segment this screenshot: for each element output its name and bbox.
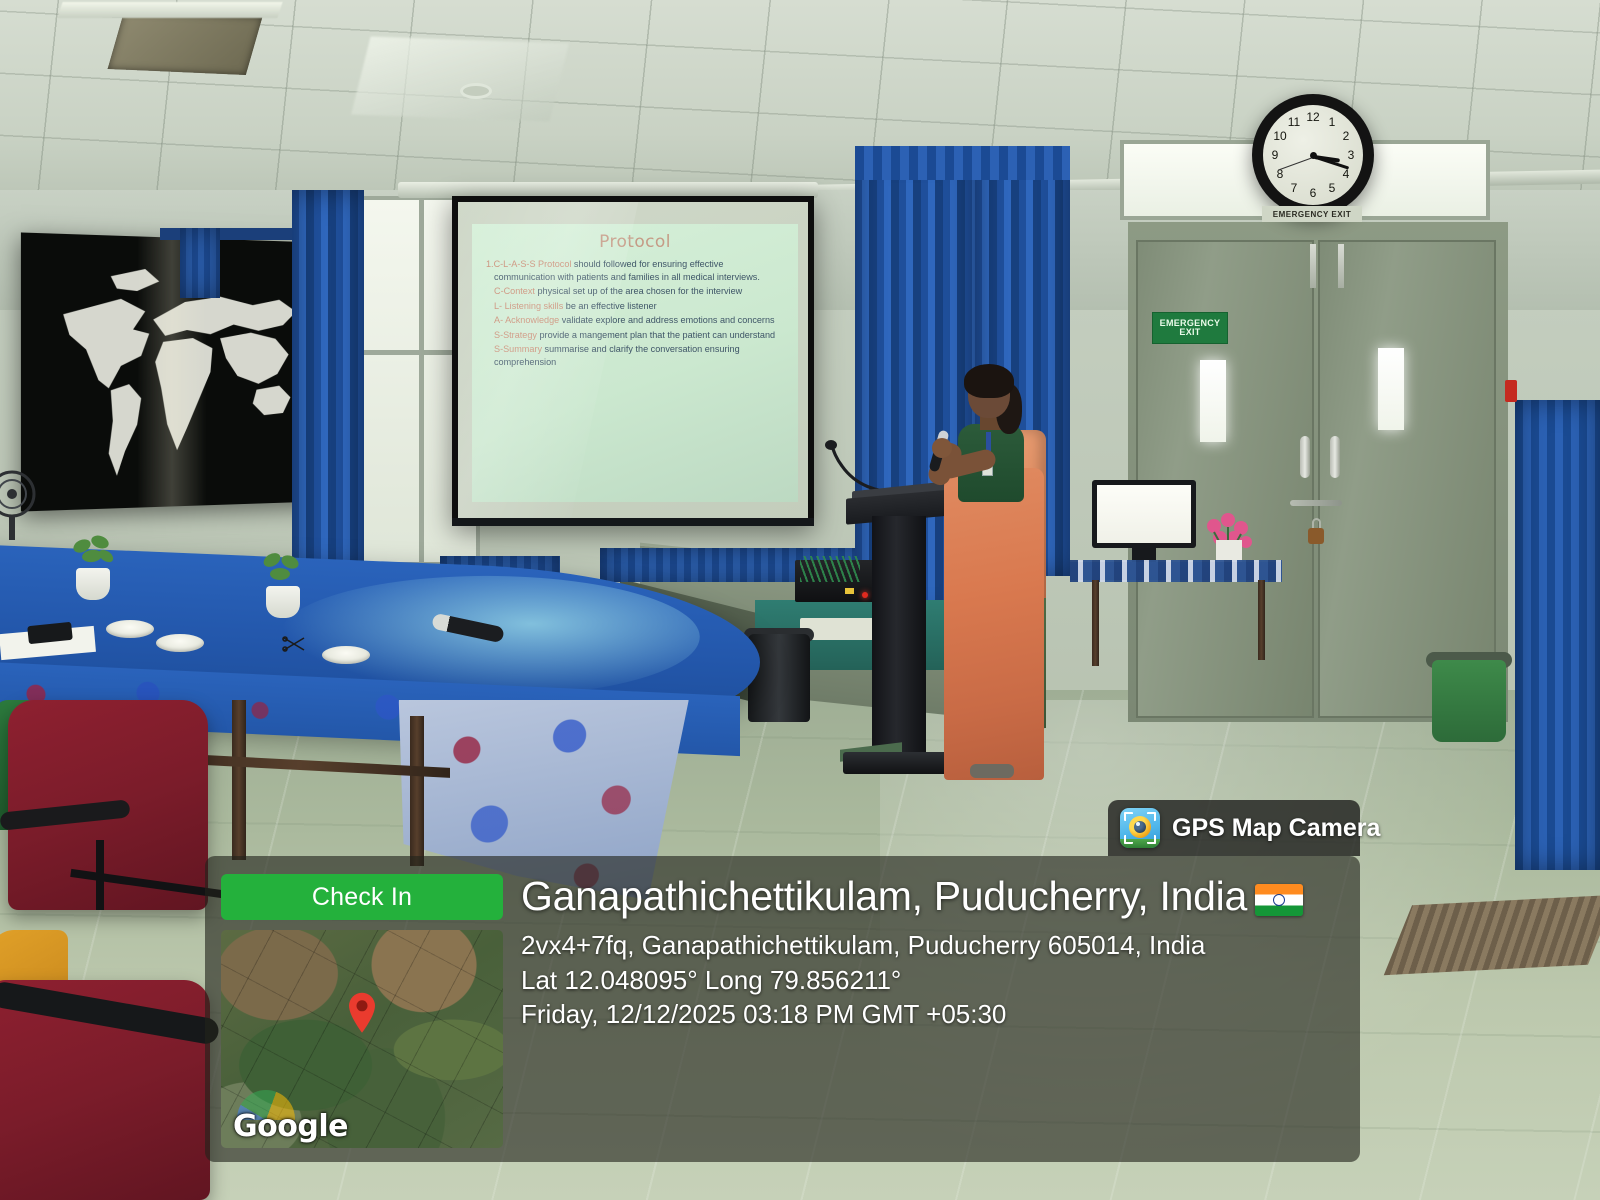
gps-brand-label: GPS Map Camera — [1172, 814, 1380, 843]
curtain-valance — [855, 146, 1070, 180]
side-table-cloth — [1070, 560, 1282, 582]
trash-bin — [748, 634, 810, 722]
av-led-red — [862, 592, 868, 598]
location-title: Ganapathichettikulam, Puducherry, India — [521, 874, 1344, 918]
door-tower-bolt-right — [1338, 244, 1344, 288]
potted-plant-leaves — [258, 548, 304, 588]
gps-camera-icon — [1120, 808, 1160, 848]
screen-bottom-bar — [452, 518, 814, 526]
curtain-far-right — [1515, 400, 1600, 870]
curtain-far-left — [180, 228, 220, 298]
slide-keyword: 1.C-L-A-S-S Protocol — [486, 259, 571, 269]
presenter — [930, 368, 1060, 780]
table-leg — [410, 716, 424, 866]
curtain-left — [292, 190, 364, 580]
chair-leg — [96, 840, 104, 910]
wall-clock: 12 1 2 3 4 5 6 7 8 9 10 11 — [1252, 94, 1374, 216]
av-cables — [800, 556, 860, 582]
potted-plant-pot — [266, 586, 300, 618]
door-mat — [1384, 895, 1600, 975]
paper-doily — [106, 620, 154, 638]
slide-content: Protocol 1.C-L-A-S-S Protocol should fol… — [472, 224, 798, 502]
monitor — [1092, 480, 1196, 548]
door-latch-bolt[interactable] — [1290, 500, 1342, 506]
slide-title: Protocol — [484, 232, 786, 252]
slide-text: validate explore and address emotions an… — [559, 315, 774, 325]
potted-plant-leaves — [70, 532, 116, 572]
slide-bullet: C-Context physical set up of the area ch… — [484, 285, 786, 298]
door-glass-panel — [1378, 348, 1404, 430]
pedestal-fan — [0, 470, 48, 540]
emergency-exit-sign: EMERGENCY EXIT — [1152, 312, 1228, 344]
ceiling-panel — [351, 37, 569, 122]
slide-bullet: S-Summary summarise and clarify the conv… — [484, 343, 786, 369]
presenter-hair — [964, 364, 1014, 398]
datetime-line: Friday, 12/12/2025 03:18 PM GMT +05:30 — [521, 997, 1344, 1031]
smoke-detector-icon — [460, 83, 492, 99]
slide-text: physical set up of the area chosen for t… — [535, 286, 742, 296]
exit-door-right[interactable] — [1318, 240, 1496, 718]
scissors-icon — [282, 636, 308, 654]
green-waste-bin — [1432, 660, 1506, 742]
google-watermark: Google — [233, 1109, 348, 1144]
slide-bullet: 1.C-L-A-S-S Protocol should followed for… — [484, 258, 786, 284]
side-table-leg — [1092, 580, 1099, 666]
slide-bullet: L- Listening skills be an effective list… — [484, 300, 786, 313]
address-line: 2vx4+7fq, Ganapathichettikulam, Puducher… — [521, 928, 1344, 962]
location-details: 2vx4+7fq, Ganapathichettikulam, Puducher… — [521, 928, 1344, 1031]
slide-bullet: S-Strategy provide a mangement plan that… — [484, 329, 786, 342]
india-flag-icon — [1255, 884, 1303, 916]
door-handle-left[interactable] — [1300, 436, 1310, 478]
slide-keyword: L- Listening skills — [494, 301, 563, 311]
side-table-leg — [1258, 580, 1265, 660]
gps-brand-bar: GPS Map Camera — [1108, 800, 1360, 856]
presenter-feet — [970, 764, 1014, 778]
presenter-saree — [944, 468, 1044, 780]
door-glass-panel — [1200, 360, 1226, 442]
av-led-yellow — [845, 588, 854, 594]
projection-screen: Protocol 1.C-L-A-S-S Protocol should fol… — [452, 196, 814, 524]
map-thumbnail[interactable]: Google — [221, 930, 503, 1148]
emergency-exit-plate: EMERGENCY EXIT — [1262, 206, 1362, 222]
photo-canvas: Protocol 1.C-L-A-S-S Protocol should fol… — [0, 0, 1600, 1200]
exit-sign-line2: EXIT — [1179, 328, 1200, 337]
slide-body: 1.C-L-A-S-S Protocol should followed for… — [484, 258, 786, 369]
clock-face: 12 1 2 3 4 5 6 7 8 9 10 11 — [1263, 105, 1363, 205]
potted-plant-pot — [76, 568, 110, 600]
podium-column — [872, 516, 926, 764]
paper-doily — [156, 634, 204, 652]
table-leg — [232, 700, 246, 860]
fire-alarm-icon[interactable] — [1505, 380, 1517, 402]
gps-panel-right: Ganapathichettikulam, Puducherry, India … — [521, 874, 1344, 1146]
paper-doily — [322, 646, 370, 664]
slide-text: provide a mangement plan that the patien… — [537, 330, 775, 340]
gps-panel-left: Check In Google — [221, 874, 503, 1146]
door-tower-bolt-left — [1310, 244, 1316, 288]
ceiling-light-strip — [57, 2, 282, 18]
coordinates-line: Lat 12.048095° Long 79.856211° — [521, 963, 1344, 997]
slide-keyword: C-Context — [494, 286, 535, 296]
door-handle-right[interactable] — [1330, 436, 1340, 478]
monitor-screen — [1097, 485, 1191, 543]
slide-bullet: A- Acknowledge validate explore and addr… — [484, 314, 786, 327]
ceiling-vent — [108, 11, 263, 75]
clock-center-pin — [1310, 152, 1317, 159]
world-map-board — [21, 232, 337, 511]
location-title-text: Ganapathichettikulam, Puducherry, India — [521, 873, 1247, 919]
presenter-hand — [932, 438, 952, 458]
gps-info-panel: Check In Google Ganapathichettikulam, Pu… — [205, 856, 1360, 1162]
check-in-button[interactable]: Check In — [221, 874, 503, 920]
slide-keyword: A- Acknowledge — [494, 315, 559, 325]
location-pin-icon — [347, 992, 377, 1034]
slide-keyword: S-Strategy — [494, 330, 537, 340]
slide-keyword: S-Summary — [494, 344, 542, 354]
slide-text: be an effective listener — [563, 301, 656, 311]
padlock-icon — [1308, 528, 1324, 544]
